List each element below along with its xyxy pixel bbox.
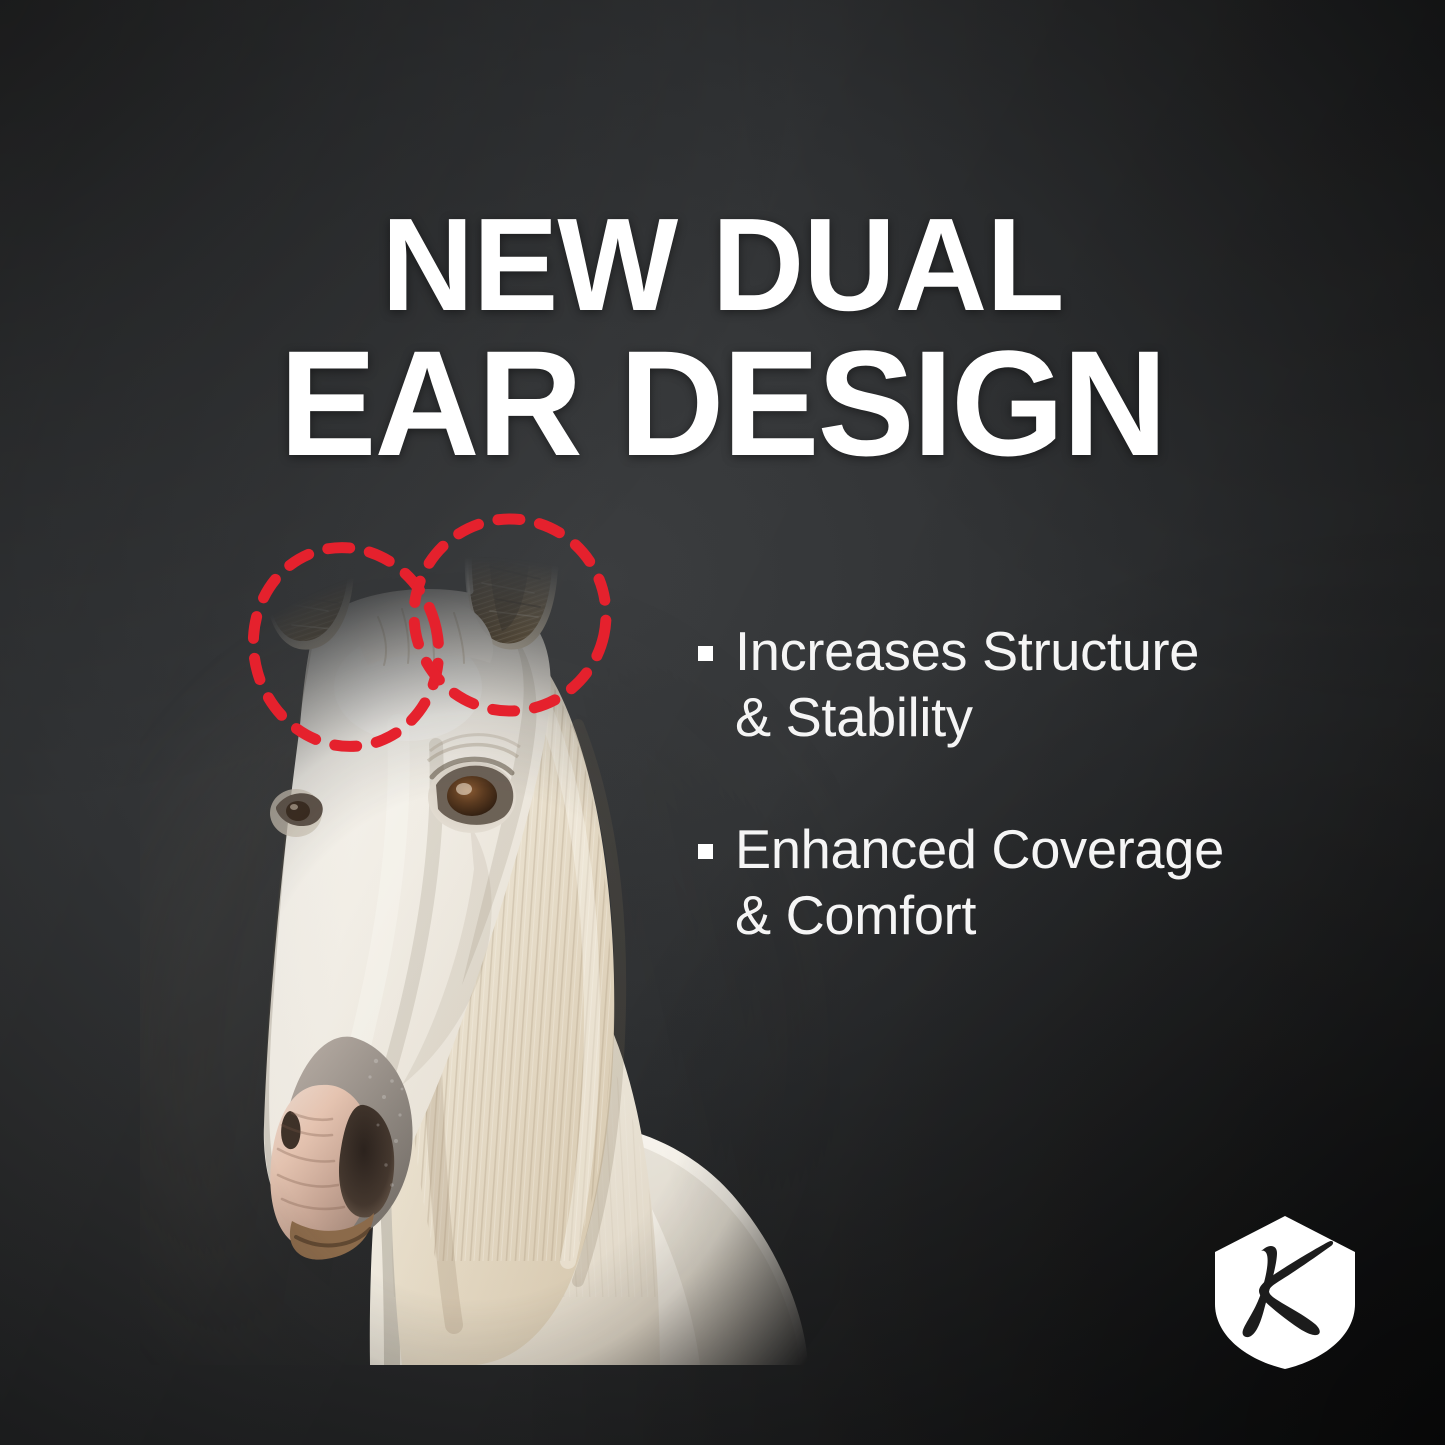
list-item: Increases Structure & Stability [698,618,1358,750]
poster-canvas: NEW DUAL EAR DESIGN [0,0,1445,1445]
feature-text-2: Enhanced Coverage & Comfort [735,816,1224,948]
feature-text-1-line-1: Increases Structure [735,620,1199,682]
feature-text-1-line-2: & Stability [735,686,973,748]
feature-list: Increases Structure & Stability Enhanced… [698,618,1358,1014]
feature-text-2-line-1: Enhanced Coverage [735,818,1224,880]
shield-k-icon [1205,1212,1365,1372]
headline-line-1: NEW DUAL [22,200,1424,329]
shield-shape [1215,1216,1355,1369]
brand-logo [1205,1212,1365,1372]
bullet-square-icon [698,844,713,859]
bullet-square-icon [698,646,713,661]
feature-text-1: Increases Structure & Stability [735,618,1199,750]
list-item: Enhanced Coverage & Comfort [698,816,1358,948]
feature-text-2-line-2: & Comfort [735,884,976,946]
